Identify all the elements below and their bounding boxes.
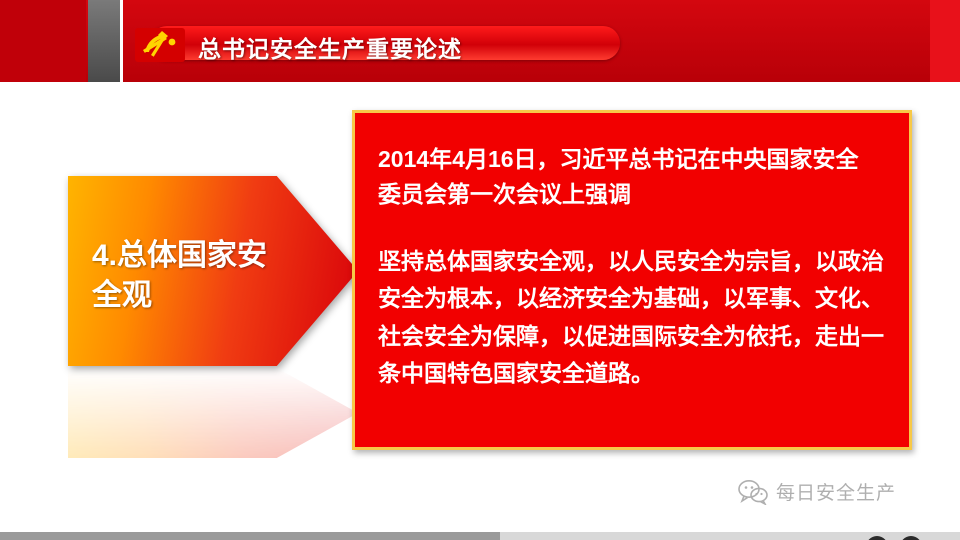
header-white-divider: [120, 0, 123, 82]
slide-nav: ◀ ▶: [866, 536, 922, 540]
page-title: 总书记安全生产重要论述: [198, 30, 618, 64]
header-dark-tab: [88, 0, 120, 82]
content-heading: 2014年4月16日，习近平总书记在中央国家安全委员会第一次会议上强调: [378, 142, 878, 211]
wechat-icon: [738, 479, 768, 505]
header-left-block: [0, 0, 86, 82]
content-paragraph: 坚持总体国家安全观，以人民安全为宗旨，以政治安全为根本，以经济安全为基础，以军事…: [378, 243, 886, 392]
bottom-strip: [0, 532, 960, 540]
party-emblem-icon: [131, 22, 189, 68]
prev-arrow-icon[interactable]: ◀: [866, 536, 888, 540]
arrow-label: 4.总体国家安 全观: [92, 236, 302, 315]
arrow-reflection: [68, 368, 358, 458]
watermark-text: 每日安全生产: [776, 478, 896, 505]
header-right-block: [930, 0, 960, 82]
slide-canvas: 总书记安全生产重要论述 4.总体国家安 全观 2014年4月16日，习近平总书记…: [0, 0, 960, 540]
next-arrow-icon[interactable]: ▶: [900, 536, 922, 540]
bottom-strip-fill: [0, 532, 500, 540]
section-arrow-tag: 4.总体国家安 全观: [68, 176, 358, 366]
watermark: 每日安全生产: [738, 478, 896, 505]
